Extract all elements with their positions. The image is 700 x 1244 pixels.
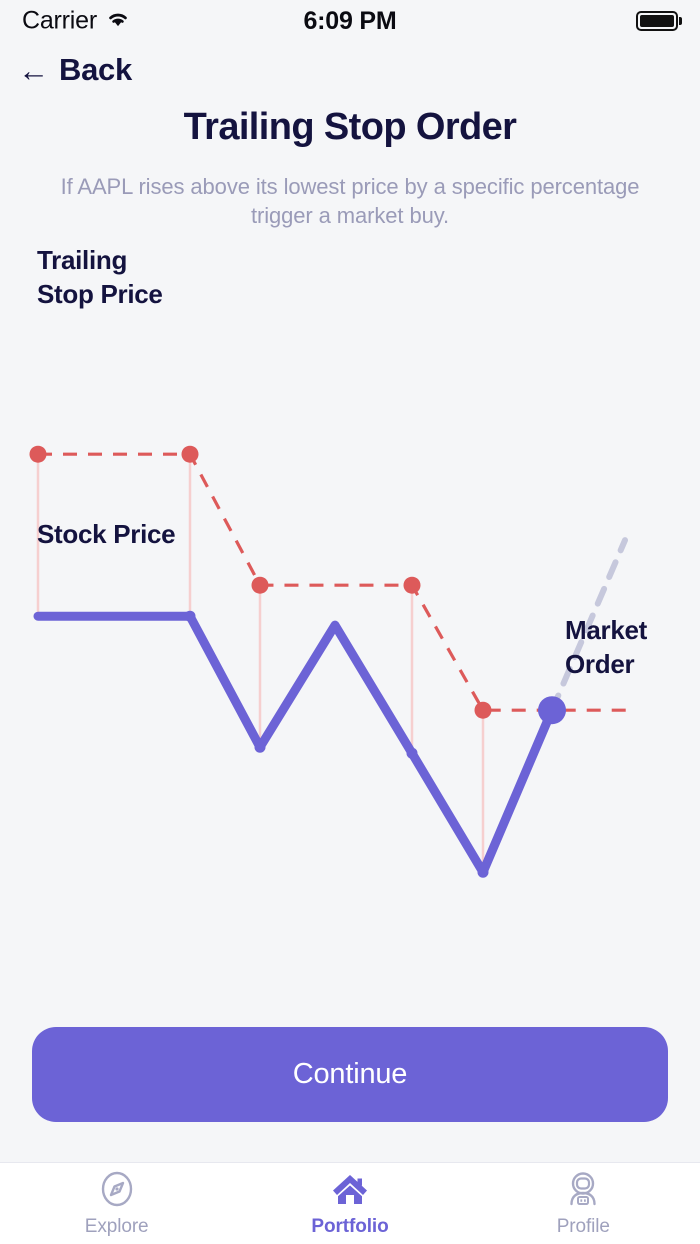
tab-profile[interactable]: Profile	[467, 1163, 700, 1244]
market-order-marker	[538, 696, 566, 724]
chart-label-stock-price: Stock Price	[37, 517, 175, 551]
stock-price-line	[38, 616, 552, 872]
app-screen: Carrier 6:09 PM ← Back Trailing Stop Ord…	[0, 0, 700, 1244]
tab-explore-label: Explore	[85, 1216, 149, 1238]
cta-container: Continue	[0, 1027, 700, 1162]
trailing-stop-line	[38, 454, 628, 710]
status-bar-time: 6:09 PM	[0, 7, 700, 36]
tab-portfolio[interactable]: Portfolio	[233, 1163, 466, 1244]
status-bar: Carrier 6:09 PM	[0, 0, 700, 42]
chart-label-trailing-stop-price: Trailing Stop Price	[37, 243, 163, 312]
status-bar-right	[636, 11, 683, 31]
home-icon	[330, 1169, 370, 1209]
tab-bar: Explore Portfolio	[0, 1162, 700, 1244]
header: Trailing Stop Order If AAPL rises above …	[0, 98, 700, 231]
tab-portfolio-label: Portfolio	[311, 1216, 388, 1238]
page-subtitle: If AAPL rises above its lowest price by …	[35, 172, 665, 231]
back-button-label: Back	[59, 52, 132, 88]
chart-label-market-order: Market Order	[565, 613, 647, 682]
stock-price-markers	[185, 610, 489, 877]
compass-icon	[97, 1169, 137, 1209]
continue-button[interactable]: Continue	[32, 1027, 668, 1122]
battery-cap	[679, 17, 682, 25]
back-button[interactable]: ← Back	[0, 42, 700, 98]
tab-explore[interactable]: Explore	[0, 1163, 233, 1244]
tab-profile-label: Profile	[557, 1216, 610, 1238]
back-arrow-icon: ←	[18, 55, 49, 86]
trailing-stop-chart: Trailing Stop Price Stock Price Market O…	[0, 231, 700, 1027]
battery-full-icon	[636, 11, 678, 31]
astronaut-icon	[563, 1169, 603, 1209]
page-title: Trailing Stop Order	[24, 106, 676, 150]
